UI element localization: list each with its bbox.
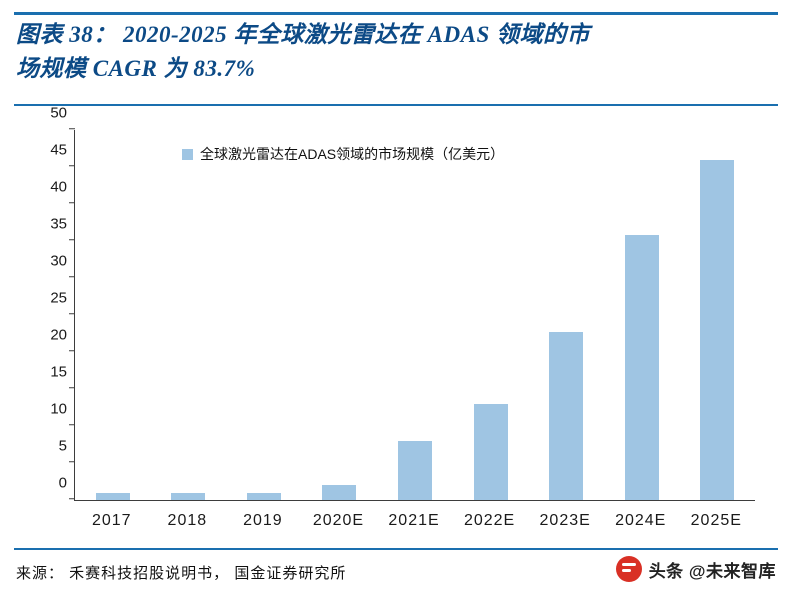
- bar: [322, 485, 356, 500]
- x-axis-tick-label: 2025E: [679, 512, 755, 530]
- x-axis-tick-label: 2023E: [527, 512, 603, 530]
- title-line-2: 场规模 CAGR 为 83.7%: [16, 52, 778, 86]
- y-axis-tick-label: 30: [50, 253, 75, 270]
- y-axis-tick-label: 20: [50, 327, 75, 344]
- y-axis-tick-label: 15: [50, 364, 75, 381]
- toutiao-logo-icon: [616, 556, 642, 582]
- bar: [171, 493, 205, 500]
- plot-area: 05101520253035404550: [74, 130, 755, 501]
- y-axis-tick-label: 10: [50, 401, 75, 418]
- y-axis-tick-mark: [69, 498, 75, 500]
- x-axis-tick-label: 2022E: [452, 512, 528, 530]
- y-axis-tick-mark: [69, 165, 75, 167]
- legend-swatch-icon: [182, 149, 193, 160]
- y-axis-tick-mark: [69, 239, 75, 241]
- title-line-1: 图表 38： 2020-2025 年全球激光雷达在 ADAS 领域的市: [16, 18, 778, 52]
- bar: [474, 404, 508, 500]
- bar: [247, 493, 281, 500]
- page-title: 图表 38： 2020-2025 年全球激光雷达在 ADAS 领域的市 场规模 …: [16, 18, 778, 86]
- bar: [625, 235, 659, 500]
- bar: [549, 332, 583, 500]
- title-bottom-rule: [14, 104, 778, 106]
- x-axis-tick-label: 2020E: [301, 512, 377, 530]
- chart-page: 图表 38： 2020-2025 年全球激光雷达在 ADAS 领域的市 场规模 …: [0, 0, 792, 595]
- y-axis-tick-mark: [69, 350, 75, 352]
- bar: [96, 493, 130, 500]
- chart-legend: 全球激光雷达在ADAS领域的市场规模（亿美元）: [182, 144, 504, 164]
- y-axis-tick-label: 35: [50, 216, 75, 233]
- bar-cell: [528, 130, 604, 500]
- x-axis-tick-label: 2018: [150, 512, 226, 530]
- bar-cell: [75, 130, 151, 500]
- x-axis-tick-label: 2021E: [376, 512, 452, 530]
- watermark-label: 头条 @未来智库: [649, 557, 776, 582]
- y-axis-tick-mark: [69, 202, 75, 204]
- bar-cell: [604, 130, 680, 500]
- bar: [700, 160, 734, 500]
- x-axis-tick-label: 2019: [225, 512, 301, 530]
- y-axis-tick-mark: [69, 313, 75, 315]
- x-axis-tick-label: 2024E: [603, 512, 679, 530]
- bar-cell: [680, 130, 756, 500]
- bar: [398, 441, 432, 500]
- y-axis-tick-mark: [69, 387, 75, 389]
- legend-label: 全球激光雷达在ADAS领域的市场规模（亿美元）: [200, 144, 504, 164]
- bar-cell: [151, 130, 227, 500]
- y-axis-tick-label: 40: [50, 179, 75, 196]
- y-axis-tick-label: 5: [59, 438, 75, 455]
- bar-cell: [453, 130, 529, 500]
- watermark: 头条 @未来智库: [616, 556, 776, 582]
- footer-rule: [14, 548, 778, 550]
- bar-cell: [302, 130, 378, 500]
- bar-cell: [226, 130, 302, 500]
- chart-container: 05101520253035404550 2017201820192020E20…: [14, 116, 778, 546]
- source-note: 来源： 禾赛科技招股说明书， 国金证券研究所: [16, 562, 346, 583]
- bar-cell: [377, 130, 453, 500]
- y-axis-tick-mark: [69, 276, 75, 278]
- x-axis-labels: 2017201820192020E2021E2022E2023E2024E202…: [74, 512, 754, 530]
- y-axis-tick-mark: [69, 128, 75, 130]
- y-axis-tick-label: 0: [59, 475, 75, 492]
- bar-series: [75, 130, 755, 500]
- title-top-rule: [14, 12, 778, 15]
- y-axis-tick-label: 50: [50, 105, 75, 122]
- y-axis-tick-mark: [69, 424, 75, 426]
- y-axis-tick-label: 45: [50, 142, 75, 159]
- y-axis-tick-mark: [69, 461, 75, 463]
- y-axis-tick-label: 25: [50, 290, 75, 307]
- x-axis-tick-label: 2017: [74, 512, 150, 530]
